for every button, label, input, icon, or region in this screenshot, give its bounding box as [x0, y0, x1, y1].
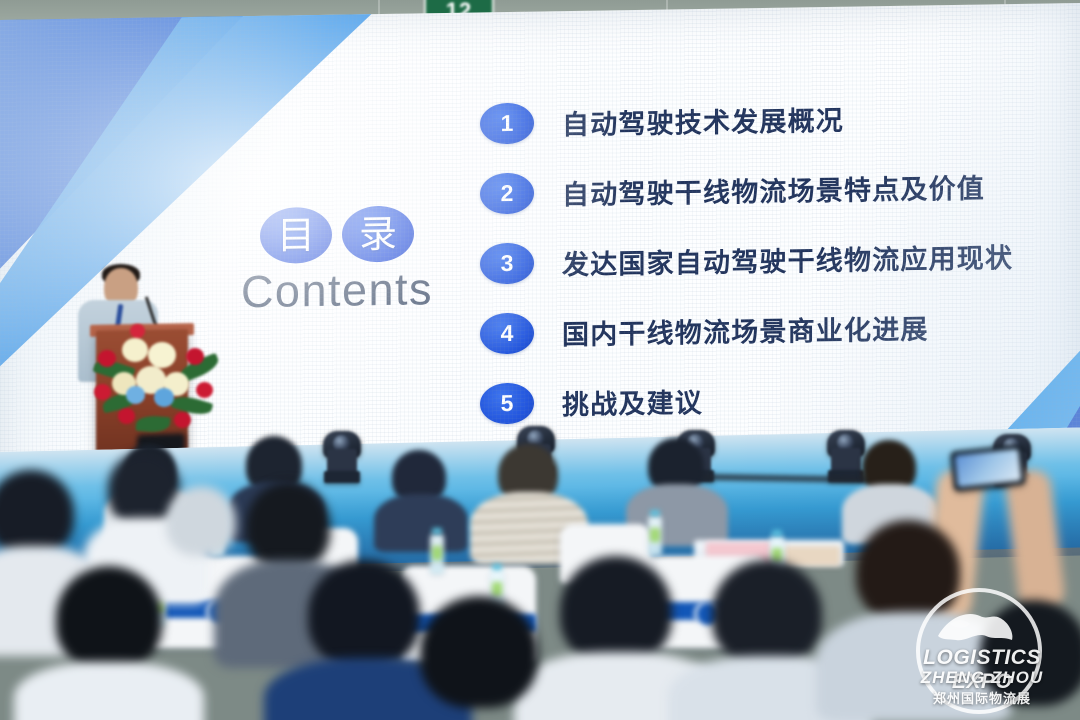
conference-photo: 12 目 录 Contents 1 自动驾驶技术发展概况: [0, 0, 1080, 720]
contents-pill-lu: 录: [342, 205, 414, 262]
agenda-label-2: 自动驾驶干线物流场景特点及价值: [562, 167, 985, 213]
agenda-badge-3: 3: [480, 243, 534, 285]
contents-word-en: Contents: [222, 263, 452, 319]
moving-head-light-1: [322, 425, 362, 483]
audience-head-foreground: [246, 482, 330, 570]
agenda-item-5: 5 挑战及建议: [480, 372, 1040, 428]
bottle-cap: [772, 530, 782, 536]
audience-head-foreground: [712, 560, 822, 666]
slide-agenda-list: 1 自动驾驶技术发展概况 2 自动驾驶干线物流场景特点及价值 3 发达国家自动驾…: [480, 92, 1040, 451]
audience-head-foreground: [560, 556, 672, 664]
water-bottle: [648, 516, 662, 556]
agenda-label-1: 自动驾驶技术发展概况: [562, 99, 844, 142]
bottle-cap: [432, 528, 442, 534]
slide-contents-heading: 目 录 Contents: [222, 205, 452, 319]
agenda-label-4: 国内干线物流场景商业化进展: [562, 307, 929, 352]
agenda-item-4: 4 国内干线物流场景商业化进展: [480, 302, 1040, 358]
agenda-label-3: 发达国家自动驾驶干线物流应用现状: [562, 236, 1013, 282]
flower-bouquet: [92, 320, 220, 440]
agenda-item-2: 2 自动驾驶干线物流场景特点及价值: [480, 162, 1040, 218]
agenda-badge-1: 1: [480, 103, 534, 145]
agenda-label-5: 挑战及建议: [562, 381, 703, 422]
agenda-badge-5: 5: [480, 383, 534, 425]
audience-head-foreground: [166, 486, 236, 556]
phone-screen: [955, 449, 1022, 488]
audience-head-foreground: [56, 566, 162, 670]
audience-head-foreground: [420, 596, 538, 708]
agenda-badge-2: 2: [480, 173, 534, 215]
audience-head-foreground: [308, 560, 420, 668]
contents-pill-mu: 目: [260, 207, 332, 264]
audience-head-foreground: [856, 520, 960, 622]
audience-shoulders-foreground: [14, 662, 204, 720]
name-card: [784, 546, 840, 566]
smartphone: [950, 444, 1026, 491]
audience-head-foreground: [980, 600, 1080, 706]
bottle-cap: [650, 510, 660, 516]
water-bottle: [430, 534, 444, 574]
agenda-item-1: 1 自动驾驶技术发展概况: [480, 92, 1040, 148]
moving-head-light-4: [826, 424, 866, 482]
agenda-item-3: 3 发达国家自动驾驶干线物流应用现状: [480, 232, 1040, 288]
contents-pill-row: 目 录: [222, 205, 452, 265]
bottle-cap: [492, 564, 502, 570]
agenda-badge-4: 4: [480, 313, 534, 355]
audience-shoulders: [374, 494, 468, 552]
